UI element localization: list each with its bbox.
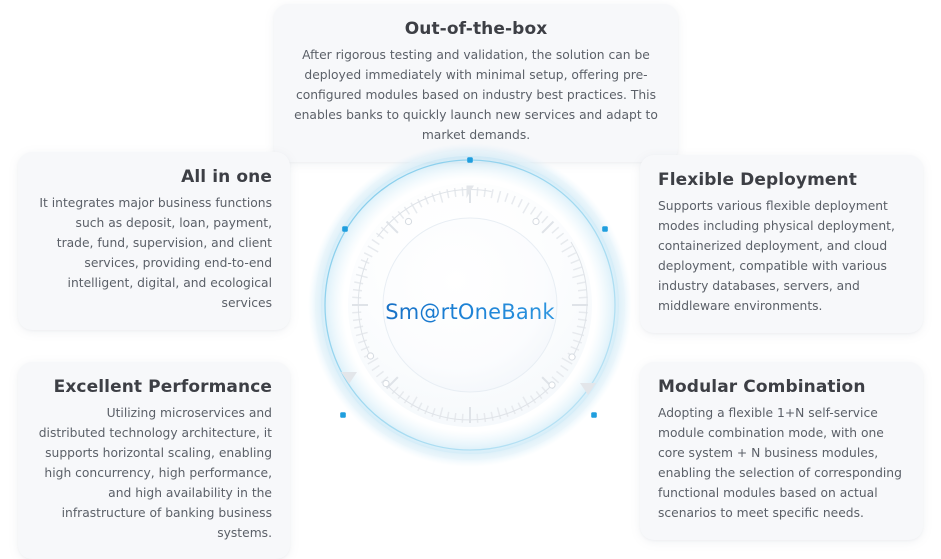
tick-mark <box>477 414 478 423</box>
tick-mark <box>352 297 361 298</box>
central-orbit-graphic: Sm@rtOneBank <box>305 140 635 470</box>
card-title: Out-of-the-box <box>292 18 660 40</box>
tick-mark <box>477 187 478 196</box>
feature-card-out-of-the-box[interactable]: Out-of-the-box After rigorous testing an… <box>274 4 678 162</box>
card-body: After rigorous testing and validation, t… <box>292 46 660 146</box>
card-title: Flexible Deployment <box>658 169 905 191</box>
feature-card-flexible-deployment[interactable]: Flexible Deployment Supports various fle… <box>640 155 923 333</box>
card-title: Excellent Performance <box>36 376 272 398</box>
tick-mark <box>352 312 361 313</box>
tick-mark <box>579 297 588 298</box>
arc-dot-top-right <box>533 218 539 224</box>
arc-dot-top-left <box>405 218 411 224</box>
orbit-svg <box>305 140 635 470</box>
tick-mark <box>462 414 463 423</box>
card-body: It integrates major business functions s… <box>36 194 272 313</box>
ring-node-top <box>467 157 473 163</box>
feature-card-excellent-performance[interactable]: Excellent Performance Utilizing microser… <box>18 362 290 559</box>
arc-dot-bottom-left <box>383 380 389 386</box>
card-title: All in one <box>36 166 272 188</box>
arc-dot-right-bottom <box>569 354 575 360</box>
ring-node-left-lower <box>340 412 346 418</box>
arc-dot-bottom-right <box>549 382 555 388</box>
feature-card-all-in-one[interactable]: All in one It integrates major business … <box>18 152 290 330</box>
card-title: Modular Combination <box>658 376 905 398</box>
card-body: Adopting a flexible 1+N self-service mod… <box>658 404 905 523</box>
tick-mark <box>462 187 463 196</box>
ring-node-left-upper <box>342 226 348 232</box>
feature-card-modular-combination[interactable]: Modular Combination Adopting a flexible … <box>640 362 923 540</box>
arc-dot-left-bottom <box>367 353 373 359</box>
ring-node-right-lower <box>591 412 597 418</box>
card-body: Supports various flexible deployment mod… <box>658 197 905 316</box>
ring-node-right-upper <box>602 226 608 232</box>
card-body: Utilizing microservices and distributed … <box>36 404 272 543</box>
inner-disc <box>383 218 557 392</box>
